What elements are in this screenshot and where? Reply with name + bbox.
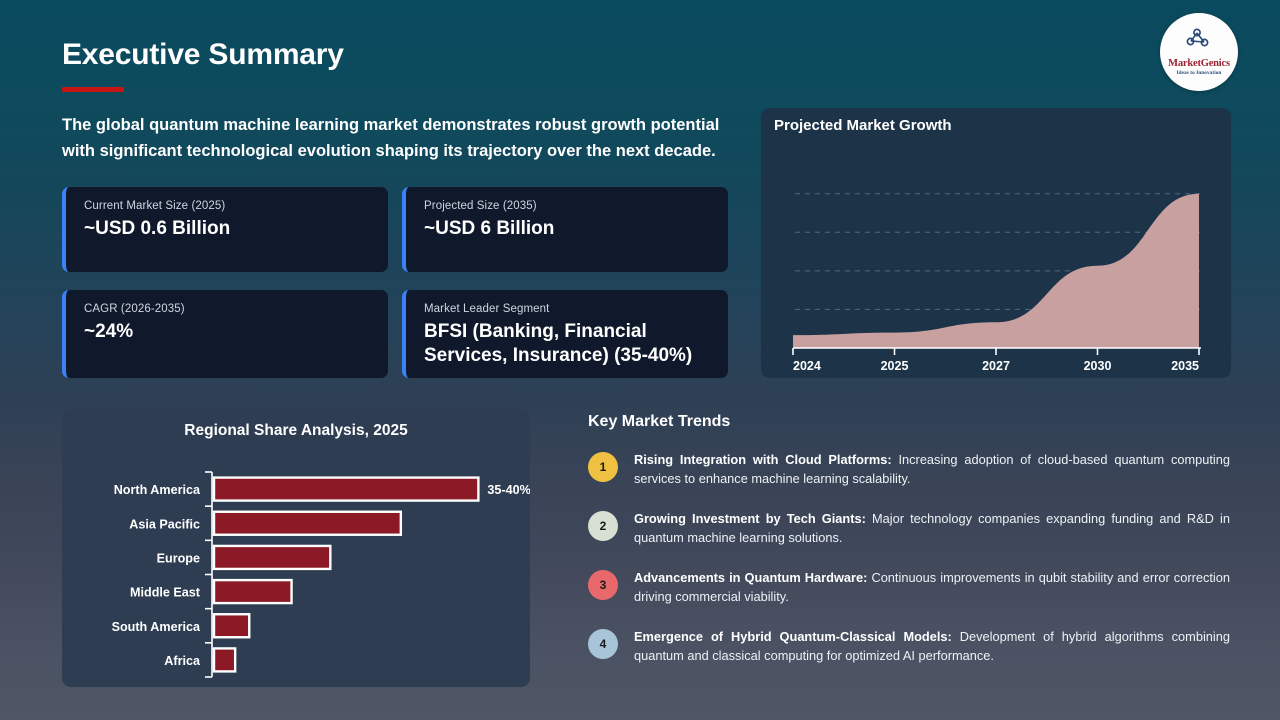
trend-number-badge: 1	[588, 452, 618, 482]
network-nodes-icon	[1184, 27, 1214, 58]
trend-heading: Advancements in Quantum Hardware:	[634, 570, 867, 585]
svg-text:35-40%: 35-40%	[487, 483, 530, 497]
page-title: Executive Summary	[62, 38, 344, 72]
trend-description: Emergence of Hybrid Quantum-Classical Mo…	[634, 627, 1230, 666]
metric-card-market-leader-segment: Market Leader Segment BFSI (Banking, Fin…	[402, 290, 728, 378]
svg-text:Asia Pacific: Asia Pacific	[129, 517, 200, 531]
page-subtitle: The global quantum machine learning mark…	[62, 113, 742, 164]
projected-market-growth-chart: 20242025202720302035	[761, 108, 1231, 378]
trend-item: 2Growing Investment by Tech Giants: Majo…	[588, 509, 1230, 548]
key-market-trends-list: 1Rising Integration with Cloud Platforms…	[588, 450, 1230, 686]
svg-text:South America: South America	[112, 620, 201, 634]
trend-description: Growing Investment by Tech Giants: Major…	[634, 509, 1230, 548]
metric-label: CAGR (2026-2035)	[84, 303, 370, 315]
metric-card-current-market-size: Current Market Size (2025) ~USD 0.6 Bill…	[62, 187, 388, 272]
trend-heading: Emergence of Hybrid Quantum-Classical Mo…	[634, 629, 952, 644]
trend-description: Rising Integration with Cloud Platforms:…	[634, 450, 1230, 489]
trend-item: 3Advancements in Quantum Hardware: Conti…	[588, 568, 1230, 607]
svg-text:North America: North America	[114, 483, 201, 497]
projected-market-growth-panel: Projected Market Growth 2024202520272030…	[761, 108, 1231, 378]
regional-share-analysis-chart: North America35-40%Asia PacificEuropeMid…	[62, 409, 530, 687]
trend-description: Advancements in Quantum Hardware: Contin…	[634, 568, 1230, 607]
metric-card-cagr: CAGR (2026-2035) ~24%	[62, 290, 388, 378]
trend-number-badge: 4	[588, 629, 618, 659]
svg-text:2035: 2035	[1171, 359, 1199, 373]
regional-share-analysis-panel: Regional Share Analysis, 2025 North Amer…	[62, 409, 530, 687]
trend-item: 4Emergence of Hybrid Quantum-Classical M…	[588, 627, 1230, 666]
svg-text:Europe: Europe	[157, 551, 200, 565]
metric-label: Projected Size (2035)	[424, 200, 710, 212]
trend-number-badge: 2	[588, 511, 618, 541]
metric-card-projected-size: Projected Size (2035) ~USD 6 Billion	[402, 187, 728, 272]
svg-text:Middle East: Middle East	[130, 586, 201, 600]
logo-tagline: Ideas to Innovation	[1177, 71, 1222, 76]
company-logo: MarketGenics Ideas to Innovation	[1160, 13, 1238, 91]
key-market-trends-title: Key Market Trends	[588, 413, 730, 431]
metric-value: ~24%	[84, 320, 370, 344]
metric-value: ~USD 0.6 Billion	[84, 217, 370, 241]
trend-number-badge: 3	[588, 570, 618, 600]
metric-value: ~USD 6 Billion	[424, 217, 710, 241]
title-underline-rule	[62, 87, 124, 92]
svg-text:2024: 2024	[793, 359, 821, 373]
svg-text:2025: 2025	[881, 359, 909, 373]
svg-text:2027: 2027	[982, 359, 1010, 373]
trend-item: 1Rising Integration with Cloud Platforms…	[588, 450, 1230, 489]
metric-value: BFSI (Banking, Financial Services, Insur…	[424, 320, 710, 369]
svg-text:Africa: Africa	[164, 654, 201, 668]
metric-label: Market Leader Segment	[424, 303, 710, 315]
metric-label: Current Market Size (2025)	[84, 200, 370, 212]
logo-brand-name: MarketGenics	[1168, 59, 1230, 70]
svg-text:2030: 2030	[1084, 359, 1112, 373]
trend-heading: Rising Integration with Cloud Platforms:	[634, 452, 892, 467]
trend-heading: Growing Investment by Tech Giants:	[634, 511, 866, 526]
